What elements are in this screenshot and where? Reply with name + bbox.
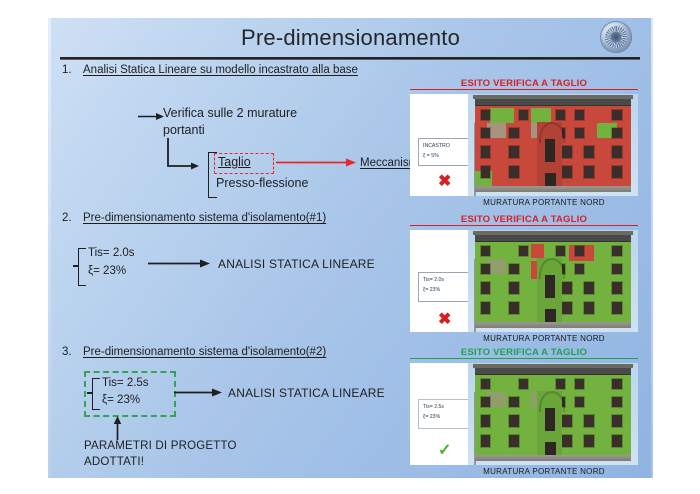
window: [562, 146, 571, 157]
shear-patch: [531, 244, 544, 258]
ground-strip: [475, 186, 631, 192]
section-2-param-xi: ξ= 23%: [88, 265, 126, 277]
window: [481, 379, 490, 389]
section-1-line1: Verifica sulle 2 murature: [163, 106, 297, 120]
window: [481, 415, 490, 426]
window: [509, 302, 518, 314]
check-mark-icon: ✓: [438, 443, 451, 459]
building-facade: [475, 104, 631, 192]
entrance-window: [545, 408, 554, 431]
panel-2-caption: MURATURA PORTANTE NORD: [450, 334, 638, 343]
entrance-window: [545, 275, 554, 298]
section-1-number: 1.: [62, 64, 72, 76]
panel-3-title: ESITO VERIFICA A TAGLIO: [410, 347, 638, 359]
section-2-result-label: ANALISI STATICA LINEARE: [218, 257, 375, 271]
section-2-brace-tick: [73, 265, 78, 267]
section-2-number: 2.: [62, 212, 72, 224]
section-2-brace: [78, 248, 86, 286]
up-arrow-icon: [112, 416, 123, 440]
slide-right-edge: [651, 18, 653, 478]
roof: [475, 98, 631, 106]
window: [612, 302, 621, 314]
window: [519, 379, 528, 389]
window: [481, 246, 490, 256]
window: [481, 397, 490, 408]
window: [556, 246, 565, 256]
window: [612, 435, 621, 447]
section-3-note-line1: PARAMETRI DI PROGETTO: [84, 440, 237, 452]
shear-patch: [490, 108, 513, 123]
result-panel-1: ESITO VERIFICA A TAGLIO INCASTRO ξ = 5% …: [410, 78, 638, 210]
section-1-heading: Analisi Statica Lineare su modello incas…: [83, 64, 358, 76]
panel-1-caption: MURATURA PORTANTE NORD: [450, 198, 638, 207]
panel-3-building-photo: [468, 363, 638, 465]
window: [612, 110, 621, 120]
window: [481, 264, 490, 275]
window: [612, 264, 621, 275]
window: [612, 397, 621, 408]
elbow-arrow-icon: [166, 138, 200, 172]
window: [481, 435, 490, 447]
window: [562, 435, 571, 447]
roof-cap: [473, 364, 633, 368]
result-panel-2: ESITO VERIFICA A TAGLIO Tis= 2.0s ξ= 23%…: [410, 214, 638, 346]
seal-core: [611, 32, 622, 43]
section-3-param-tis: Tis= 2.5s: [102, 377, 149, 389]
title-divider: [60, 57, 640, 60]
roof: [475, 367, 631, 375]
entrance-window: [545, 139, 554, 162]
window: [481, 146, 490, 157]
slide-title: Pre-dimensionamento: [48, 25, 653, 51]
branch-pressoflessione-label: Presso-flessione: [216, 176, 308, 190]
cross-mark-icon: ✖: [438, 174, 451, 190]
section-3-brace: [92, 378, 100, 410]
panel-1-building-photo: [468, 94, 638, 196]
window: [481, 128, 490, 139]
panel-2-title: ESITO VERIFICA A TAGLIO: [410, 214, 638, 226]
window: [612, 415, 621, 426]
window: [584, 302, 593, 314]
ground-strip: [475, 455, 631, 461]
window: [509, 146, 518, 157]
window: [509, 166, 518, 178]
window: [509, 415, 518, 426]
window: [509, 435, 518, 447]
cross-mark-icon: ✖: [438, 312, 451, 328]
window: [612, 282, 621, 293]
panel-3-caption: MURATURA PORTANTE NORD: [450, 467, 638, 476]
section-2-param-tis: Tis= 2.0s: [88, 247, 135, 259]
section-2-heading: Pre-dimensionamento sistema d'isolamento…: [83, 212, 326, 224]
presentation-slide: Pre-dimensionamento 1. Analisi Statica L…: [48, 18, 653, 478]
window: [481, 282, 490, 293]
window: [509, 264, 518, 275]
slide-left-edge: [48, 18, 51, 478]
building-facade: [475, 373, 631, 461]
section-1-line2: portanti: [163, 123, 205, 137]
section-3-param-xi: ξ= 23%: [102, 394, 140, 406]
right-arrow-icon: [148, 258, 210, 269]
branch-taglio-label: Taglio: [218, 155, 251, 169]
window: [556, 110, 565, 120]
window: [575, 246, 584, 256]
window: [575, 110, 584, 120]
panel-2-building-photo: [468, 230, 638, 332]
result-panel-3: ESITO VERIFICA A TAGLIO Tis= 2.5s ξ= 23%…: [410, 347, 638, 478]
window: [562, 415, 571, 426]
window: [556, 379, 565, 389]
university-seal-icon: [600, 21, 632, 53]
window: [584, 435, 593, 447]
window: [562, 302, 571, 314]
panel-1-title: ESITO VERIFICA A TAGLIO: [410, 78, 638, 90]
section-3-result-label: ANALISI STATICA LINEARE: [228, 386, 385, 400]
window: [575, 397, 584, 408]
window: [509, 128, 518, 139]
window: [612, 128, 621, 139]
right-arrow-icon: [174, 387, 222, 398]
window: [575, 128, 584, 139]
window: [509, 397, 518, 408]
window: [584, 146, 593, 157]
ground-strip: [475, 322, 631, 328]
section-3-heading: Pre-dimensionamento sistema d'isolamento…: [83, 346, 326, 358]
window: [612, 146, 621, 157]
window: [481, 110, 490, 120]
right-arrow-icon: [138, 111, 164, 122]
window: [612, 166, 621, 178]
window: [481, 166, 490, 178]
window: [575, 264, 584, 275]
roof: [475, 234, 631, 242]
window: [575, 379, 584, 389]
screenshot-root: Pre-dimensionamento 1. Analisi Statica L…: [0, 0, 700, 494]
window: [519, 246, 528, 256]
section-3-brace-tick: [87, 392, 92, 394]
window: [584, 415, 593, 426]
window: [584, 282, 593, 293]
window: [584, 166, 593, 178]
window: [612, 246, 621, 256]
window: [612, 379, 621, 389]
section-3-number: 3.: [62, 346, 72, 358]
window: [481, 302, 490, 314]
roof-cap: [473, 231, 633, 235]
section-3-note-line2: ADOTTATI!: [84, 456, 144, 468]
roof-cap: [473, 95, 633, 99]
shear-patch: [531, 108, 551, 123]
window: [562, 166, 571, 178]
window: [519, 110, 528, 120]
window: [562, 282, 571, 293]
red-right-arrow-icon: [276, 157, 356, 168]
building-facade: [475, 240, 631, 328]
window: [509, 282, 518, 293]
